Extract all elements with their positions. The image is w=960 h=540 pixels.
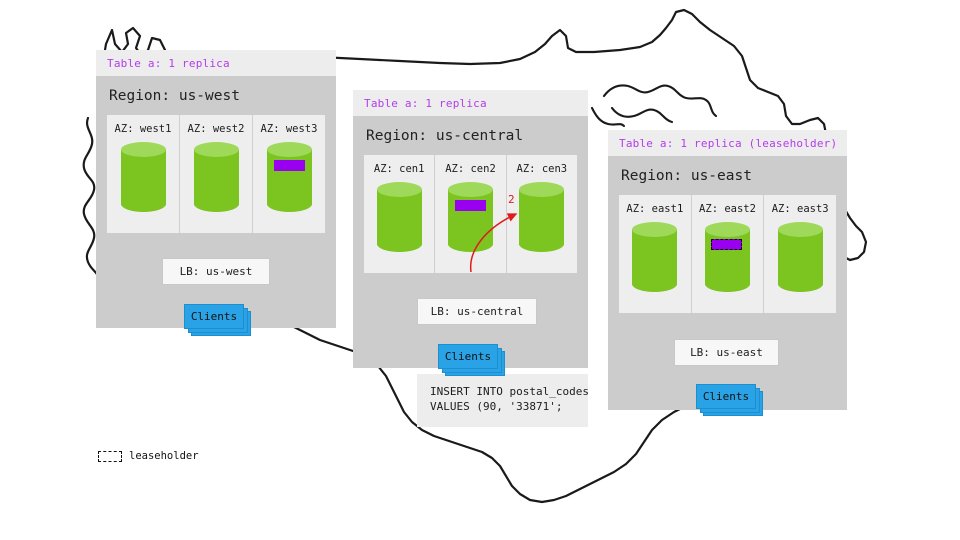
az-cen3[interactable]: AZ: cen3	[507, 155, 577, 273]
diagram-canvas: Table a: 1 replica Region: us-west AZ: w…	[0, 0, 960, 540]
database-node-icon	[267, 142, 312, 212]
node-holder	[253, 142, 325, 220]
database-node-icon	[121, 142, 166, 212]
node-holder	[107, 142, 179, 220]
az-label: AZ: west3	[253, 123, 325, 135]
clients-label: Clients	[184, 304, 244, 329]
region-body-us-central: Region: us-central AZ: cen1 AZ: cen2	[353, 116, 588, 368]
node-holder	[619, 222, 691, 300]
replica-marker-leaseholder	[711, 239, 742, 250]
region-title-us-central: Region: us-central	[353, 116, 588, 155]
clients-stack-us-east[interactable]: Clients	[696, 384, 766, 416]
database-node-icon	[705, 222, 750, 292]
database-node-icon	[448, 182, 493, 252]
load-balancer-us-central[interactable]: LB: us-central	[417, 298, 537, 325]
az-container-us-west: AZ: west1 AZ: west2	[107, 115, 325, 233]
az-label: AZ: east3	[764, 203, 836, 215]
region-panel-us-central: Table a: 1 replica Region: us-central AZ…	[353, 90, 588, 368]
database-node-icon	[377, 182, 422, 252]
region-body-us-east: Region: us-east AZ: east1 AZ: east2	[608, 156, 847, 410]
clients-label: Clients	[696, 384, 756, 409]
legend-label: leaseholder	[129, 450, 199, 462]
az-label: AZ: east1	[619, 203, 691, 215]
az-cen2[interactable]: AZ: cen2	[435, 155, 506, 273]
az-west2[interactable]: AZ: west2	[180, 115, 253, 233]
leaseholder-swatch-icon	[98, 451, 122, 462]
az-west1[interactable]: AZ: west1	[107, 115, 180, 233]
az-label: AZ: west2	[180, 123, 252, 135]
region-title-us-east: Region: us-east	[608, 156, 847, 195]
database-node-icon	[519, 182, 564, 252]
az-east1[interactable]: AZ: east1	[619, 195, 692, 313]
region-header-us-west: Table a: 1 replica	[96, 50, 336, 76]
region-title-us-west: Region: us-west	[96, 76, 336, 115]
az-label: AZ: cen3	[507, 163, 577, 175]
replica-marker	[455, 200, 486, 211]
region-header-us-central: Table a: 1 replica	[353, 90, 588, 116]
replica-marker	[274, 160, 305, 171]
az-cen1[interactable]: AZ: cen1	[364, 155, 435, 273]
az-label: AZ: cen1	[364, 163, 434, 175]
region-panel-us-west: Table a: 1 replica Region: us-west AZ: w…	[96, 50, 336, 328]
az-label: AZ: east2	[692, 203, 764, 215]
node-holder	[180, 142, 252, 220]
arrow-label-2: 2	[508, 193, 515, 206]
node-holder	[364, 182, 434, 260]
database-node-icon	[194, 142, 239, 212]
clients-stack-us-west[interactable]: Clients	[184, 304, 254, 336]
node-holder	[764, 222, 836, 300]
region-panel-us-east: Table a: 1 replica (leaseholder) Region:…	[608, 130, 847, 410]
node-holder	[507, 182, 577, 260]
node-holder	[435, 182, 505, 260]
region-body-us-west: Region: us-west AZ: west1 AZ: west2	[96, 76, 336, 328]
region-header-us-east: Table a: 1 replica (leaseholder)	[608, 130, 847, 156]
az-west3[interactable]: AZ: west3	[253, 115, 325, 233]
az-label: AZ: cen2	[435, 163, 505, 175]
legend: leaseholder	[98, 450, 199, 462]
az-container-us-east: AZ: east1 AZ: east2	[619, 195, 836, 313]
sql-statement-box: INSERT INTO postal_codes VALUES (90, '33…	[417, 374, 588, 427]
load-balancer-us-west[interactable]: LB: us-west	[162, 258, 270, 285]
az-label: AZ: west1	[107, 123, 179, 135]
clients-label: Clients	[438, 344, 498, 369]
node-holder	[692, 222, 764, 300]
az-container-us-central: AZ: cen1 AZ: cen2	[364, 155, 577, 273]
az-east2[interactable]: AZ: east2	[692, 195, 765, 313]
load-balancer-us-east[interactable]: LB: us-east	[674, 339, 779, 366]
database-node-icon	[778, 222, 823, 292]
clients-stack-us-central[interactable]: Clients	[438, 344, 508, 376]
az-east3[interactable]: AZ: east3	[764, 195, 836, 313]
database-node-icon	[632, 222, 677, 292]
